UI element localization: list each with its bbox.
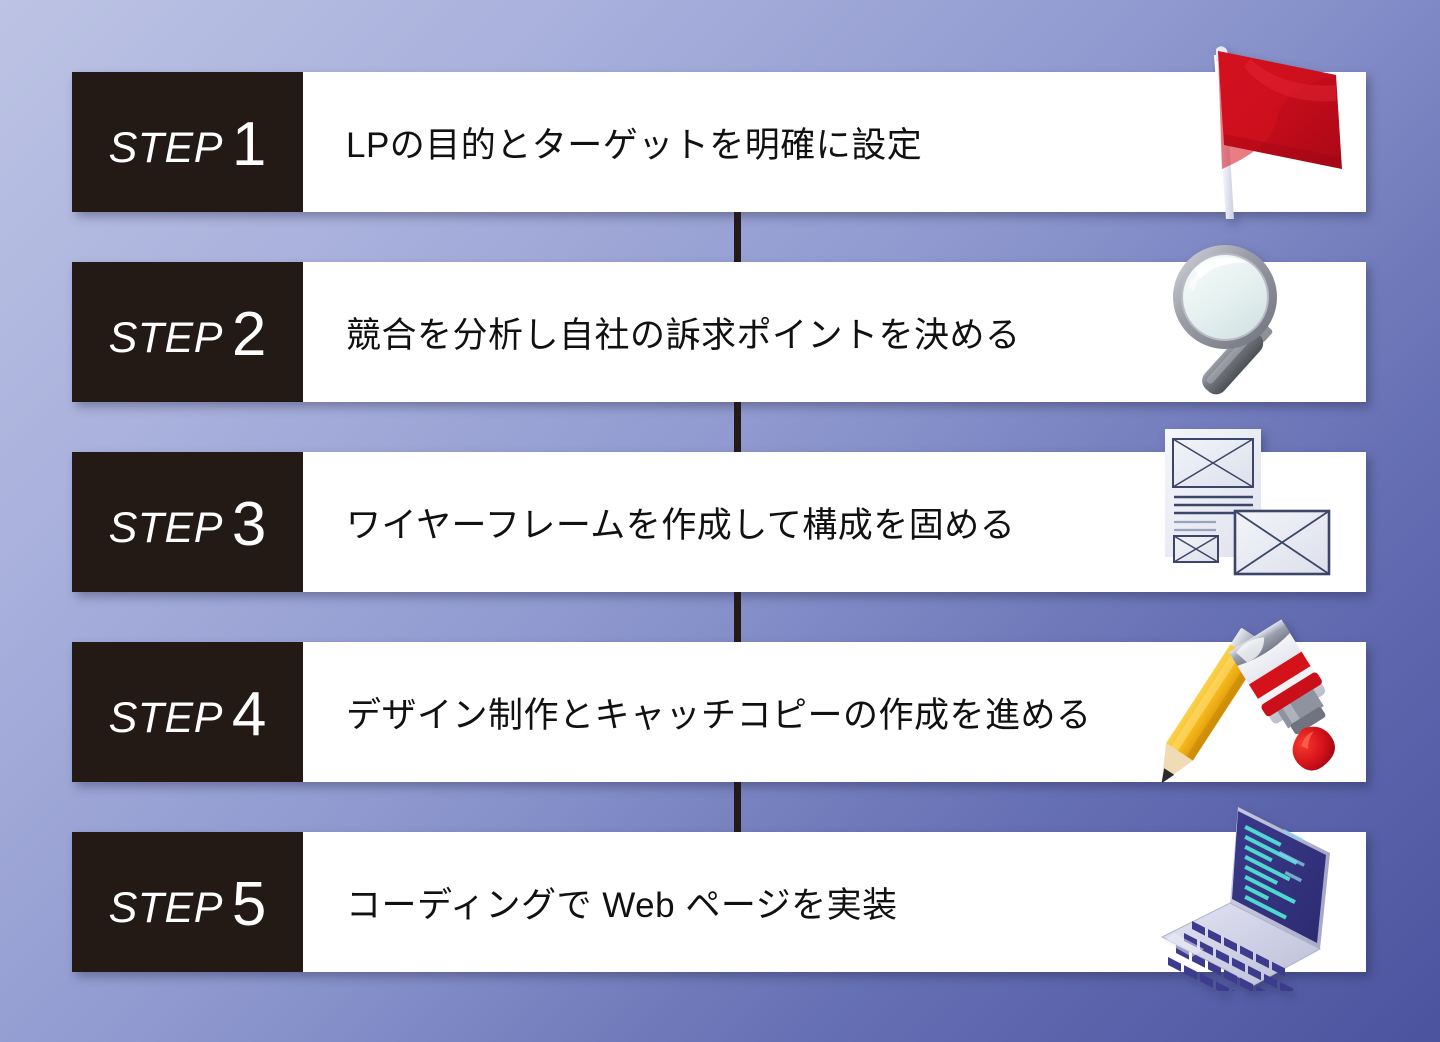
step-number-4: 4 xyxy=(232,684,266,746)
connector-line-3 xyxy=(734,585,741,647)
step-panel-5: コーディングで Web ページを実装 xyxy=(303,832,1366,972)
step-label-3: STEP xyxy=(109,507,223,550)
step-number-2: 2 xyxy=(232,304,266,366)
step-label-4: STEP xyxy=(109,697,223,740)
step-label-5: STEP xyxy=(109,887,223,930)
step-row-2[interactable]: STEP 2 競合を分析し自社の訴求ポイントを決める xyxy=(72,262,1366,402)
step-text-2: 競合を分析し自社の訴求ポイントを決める xyxy=(303,307,1221,358)
step-number-5: 5 xyxy=(232,874,266,936)
step-row-5[interactable]: STEP 5 コーディングで Web ページを実装 xyxy=(72,832,1366,972)
step-panel-2: 競合を分析し自社の訴求ポイントを決める xyxy=(303,262,1366,402)
step-number-3: 3 xyxy=(232,494,266,556)
step-panel-4: デザイン制作とキャッチコピーの作成を進める xyxy=(303,642,1366,782)
infographic-canvas: STEP 1 LPの目的とターゲットを明確に設定 xyxy=(0,0,1440,1042)
step-badge-4: STEP 4 xyxy=(72,642,303,782)
connector-line-1 xyxy=(734,205,741,267)
laptop-code-icon xyxy=(1136,797,1366,1007)
red-flag-icon xyxy=(1136,37,1366,247)
step-badge-5: STEP 5 xyxy=(72,832,303,972)
step-row-3[interactable]: STEP 3 ワイヤーフレームを作成して構成を固める xyxy=(72,452,1366,592)
step-panel-1: LPの目的とターゲットを明確に設定 xyxy=(303,72,1366,212)
step-text-3: ワイヤーフレームを作成して構成を固める xyxy=(303,497,1215,548)
step-text-5: コーディングで Web ページを実装 xyxy=(303,877,1098,928)
step-panel-3: ワイヤーフレームを作成して構成を固める xyxy=(303,452,1366,592)
step-label-2: STEP xyxy=(109,317,223,360)
step-row-1[interactable]: STEP 1 LPの目的とターゲットを明確に設定 xyxy=(72,72,1366,212)
step-badge-1: STEP 1 xyxy=(72,72,303,212)
connector-line-4 xyxy=(734,775,741,837)
step-text-4: デザイン制作とキャッチコピーの作成を進める xyxy=(303,687,1292,738)
step-row-4[interactable]: STEP 4 デザイン制作とキャッチコピーの作成を進める xyxy=(72,642,1366,782)
connector-line-2 xyxy=(734,395,741,457)
step-text-1: LPの目的とターゲットを明確に設定 xyxy=(303,117,1122,168)
step-badge-3: STEP 3 xyxy=(72,452,303,592)
step-label-1: STEP xyxy=(109,127,223,170)
step-number-1: 1 xyxy=(232,114,266,176)
step-badge-2: STEP 2 xyxy=(72,262,303,402)
